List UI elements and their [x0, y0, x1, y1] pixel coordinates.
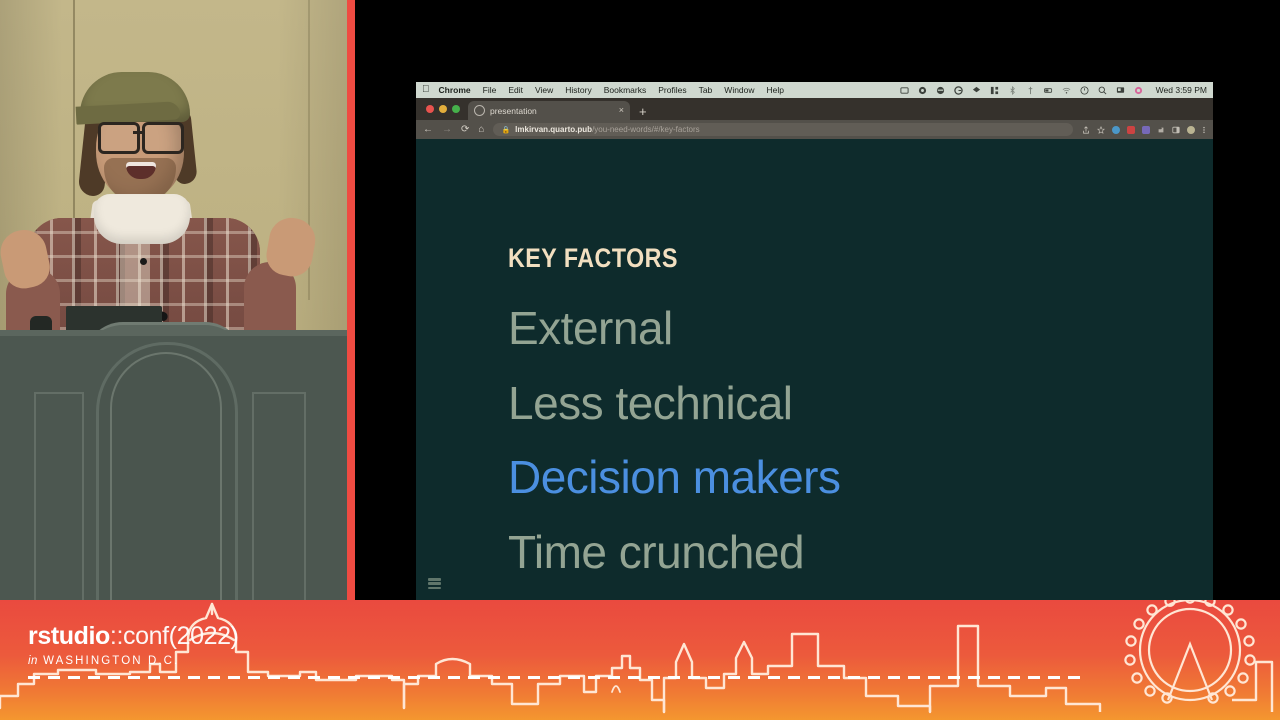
spotlight-search-icon[interactable] — [1098, 86, 1107, 95]
minimize-window-button[interactable] — [439, 105, 447, 113]
screen-mirroring-icon[interactable] — [900, 86, 909, 95]
extension-panel-icon[interactable] — [1172, 126, 1180, 134]
speaker-glasses-right-lens — [142, 122, 184, 154]
control-center-icon[interactable] — [1080, 86, 1089, 95]
grammarly-icon[interactable] — [954, 86, 963, 95]
banner-dashed-rule — [28, 676, 1088, 679]
menu-kebab-icon[interactable] — [1202, 126, 1206, 134]
window-traffic-lights[interactable] — [424, 98, 468, 120]
menu-item-file[interactable]: File — [483, 85, 497, 95]
apple-menu-icon[interactable]:  — [422, 85, 430, 95]
extension-red-icon[interactable] — [1127, 126, 1135, 134]
address-bar-url: lmkirvan.quarto.pub/you-need-words/#/key… — [515, 125, 700, 134]
ferris-wheel-outer-rim — [1140, 600, 1240, 700]
face-mask-icon — [94, 194, 190, 244]
brand-rstudio: rstudio — [28, 622, 110, 650]
extension-purple-icon[interactable] — [1142, 126, 1150, 134]
brand-conf-year: conf(2022) — [123, 622, 239, 650]
presentation-recording-frame:  Chrome File Edit View History Bookmark… — [0, 0, 1280, 720]
bullet-less-technical: Less technical — [508, 366, 841, 441]
macos-menu-bar[interactable]:  Chrome File Edit View History Bookmark… — [416, 82, 1213, 98]
lock-icon: 🔒 — [501, 126, 510, 134]
home-button[interactable]: ⌂ — [478, 125, 484, 135]
url-domain: lmkirvan.quarto.pub — [515, 125, 592, 134]
brand-separator: :: — [110, 622, 123, 650]
bullet-time-crunched: Time crunched — [508, 515, 841, 590]
bluetooth-icon[interactable] — [1008, 86, 1017, 95]
speaker-glasses-left-lens — [98, 122, 140, 154]
menu-item-bookmarks[interactable]: Bookmarks — [604, 85, 647, 95]
speaker-glasses-bridge — [133, 131, 145, 134]
bullet-external: External — [508, 291, 841, 366]
slide-bullet-list: External Less technical Decision makers … — [508, 291, 841, 589]
podium-arch-inner-line — [110, 352, 222, 600]
browser-tab-presentation[interactable]: presentation × — [468, 101, 630, 120]
chrome-toolbar[interactable]: ← → ⟳ ⌂ 🔒 lmkirvan.quarto.pub/you-need-w… — [416, 120, 1213, 139]
display-icon[interactable] — [1116, 86, 1125, 95]
screen-share-letterbox:  Chrome File Edit View History Bookmark… — [355, 0, 1280, 600]
bullet-decision-makers: Decision makers — [508, 440, 841, 515]
share-icon[interactable] — [1082, 126, 1090, 134]
chrome-toolbar-icons[interactable] — [1082, 126, 1206, 134]
rstudio-conf-wordmark: rstudio::conf(2022) in WASHINGTON D.C. — [28, 624, 239, 667]
maximize-window-button[interactable] — [452, 105, 460, 113]
stats-icon[interactable] — [990, 86, 999, 95]
location-prefix: in — [28, 655, 38, 667]
coffee-icon[interactable] — [936, 86, 945, 95]
hamburger-menu-icon[interactable] — [428, 578, 441, 589]
menu-item-view[interactable]: View — [535, 85, 553, 95]
macos-desktop:  Chrome File Edit View History Bookmark… — [416, 82, 1213, 600]
globe-icon — [474, 105, 485, 116]
menu-item-help[interactable]: Help — [767, 85, 784, 95]
tab-title: presentation — [490, 106, 614, 116]
menu-bar-clock[interactable]: Wed 3:59 PM — [1156, 85, 1207, 95]
bookmark-star-icon[interactable] — [1097, 126, 1105, 134]
address-bar[interactable]: 🔒 lmkirvan.quarto.pub/you-need-words/#/k… — [493, 123, 1073, 136]
record-icon[interactable] — [918, 86, 927, 95]
menu-item-window[interactable]: Window — [724, 85, 754, 95]
ferris-wheel-inner-rim — [1149, 609, 1231, 691]
new-tab-button[interactable]: + — [639, 105, 647, 118]
menu-item-edit[interactable]: Edit — [508, 85, 523, 95]
menu-item-profiles[interactable]: Profiles — [658, 85, 686, 95]
podium-right-panel — [252, 392, 306, 600]
back-button[interactable]: ← — [423, 125, 433, 135]
speaker-video-feed — [0, 0, 347, 600]
menu-item-history[interactable]: History — [565, 85, 591, 95]
menu-item-tab[interactable]: Tab — [699, 85, 713, 95]
profile-avatar-icon[interactable] — [1187, 126, 1195, 134]
dropbox-icon[interactable] — [972, 86, 981, 95]
podium-left-panel — [34, 392, 84, 600]
location-name: WASHINGTON D.C. — [43, 655, 179, 667]
menu-bar-tray[interactable]: Wed 3:59 PM — [900, 85, 1207, 95]
quarto-slide: KEY FACTORS External Less technical Deci… — [416, 139, 1213, 600]
extension-blue-icon[interactable] — [1112, 126, 1120, 134]
wifi-icon[interactable] — [1062, 86, 1071, 95]
forward-button[interactable]: → — [442, 125, 452, 135]
reload-button[interactable]: ⟳ — [461, 125, 469, 135]
lapel-microphone-icon — [140, 258, 147, 265]
close-window-button[interactable] — [426, 105, 434, 113]
slide-kicker-heading: KEY FACTORS — [508, 243, 678, 274]
keyboard-icon[interactable] — [1026, 86, 1035, 95]
url-path: /you-need-words/#/key-factors — [592, 125, 700, 134]
extension-puzzle-icon[interactable] — [1157, 126, 1165, 134]
chrome-tab-strip[interactable]: presentation × + — [416, 98, 1213, 120]
close-tab-icon[interactable]: × — [619, 106, 624, 115]
zoom-meeting-icon[interactable] — [1134, 86, 1143, 95]
ferris-wheel-cabins — [1125, 600, 1254, 703]
rstudio-conf-banner: rstudio::conf(2022) in WASHINGTON D.C. — [0, 600, 1280, 720]
battery-icon[interactable] — [1044, 86, 1053, 95]
menu-item-chrome[interactable]: Chrome — [439, 85, 471, 95]
